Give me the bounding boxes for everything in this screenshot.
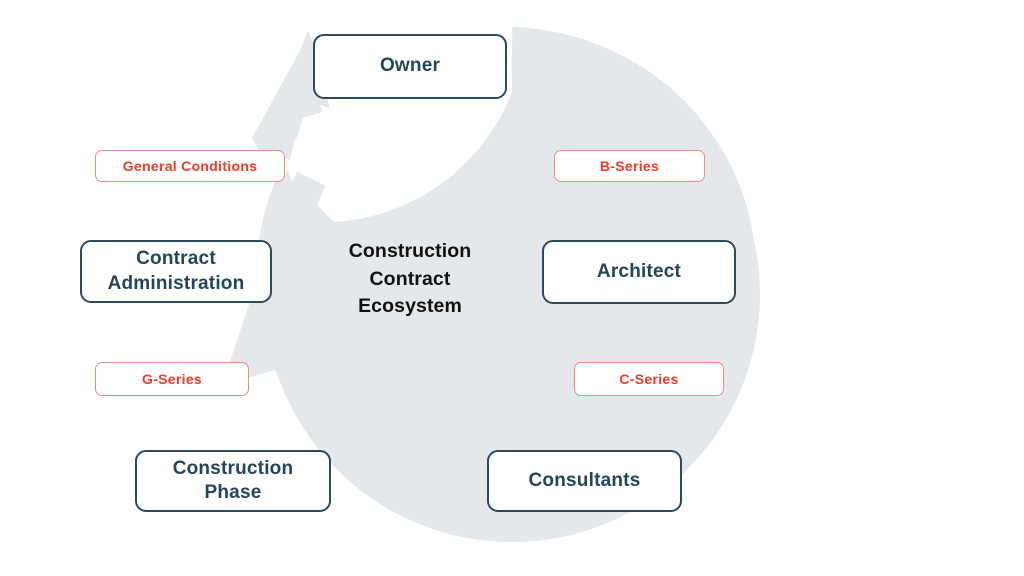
center-title: Construction Contract Ecosystem <box>310 238 510 321</box>
node-owner[interactable]: Owner <box>313 34 507 99</box>
diagram-canvas: Construction Contract Ecosystem Owner Ar… <box>0 0 1024 576</box>
tag-g-series[interactable]: G-Series <box>95 362 249 396</box>
node-contract-administration-label: Contract Administration <box>108 247 245 296</box>
node-owner-label: Owner <box>380 54 440 78</box>
node-architect-label: Architect <box>597 260 681 284</box>
tag-general-conditions-label: General Conditions <box>123 158 258 174</box>
node-construction-phase-line-1: Construction <box>173 458 294 479</box>
node-consultants[interactable]: Consultants <box>487 450 682 512</box>
node-consultants-label: Consultants <box>529 469 641 493</box>
node-construction-phase-label: Construction Phase <box>173 457 294 506</box>
tag-b-series-label: B-Series <box>600 158 659 174</box>
node-construction-phase[interactable]: Construction Phase <box>135 450 331 512</box>
node-contract-administration-line-1: Contract <box>136 248 216 269</box>
node-construction-phase-line-2: Phase <box>205 482 262 503</box>
center-title-line-1: Construction <box>310 238 510 266</box>
tag-c-series[interactable]: C-Series <box>574 362 724 396</box>
node-contract-administration-line-2: Administration <box>108 273 245 294</box>
center-title-line-3: Ecosystem <box>310 293 510 321</box>
tag-g-series-label: G-Series <box>142 371 202 387</box>
center-title-line-2: Contract <box>310 266 510 294</box>
tag-c-series-label: C-Series <box>619 371 678 387</box>
node-contract-administration[interactable]: Contract Administration <box>80 240 272 303</box>
tag-general-conditions[interactable]: General Conditions <box>95 150 285 182</box>
tag-b-series[interactable]: B-Series <box>554 150 705 182</box>
node-architect[interactable]: Architect <box>542 240 736 304</box>
